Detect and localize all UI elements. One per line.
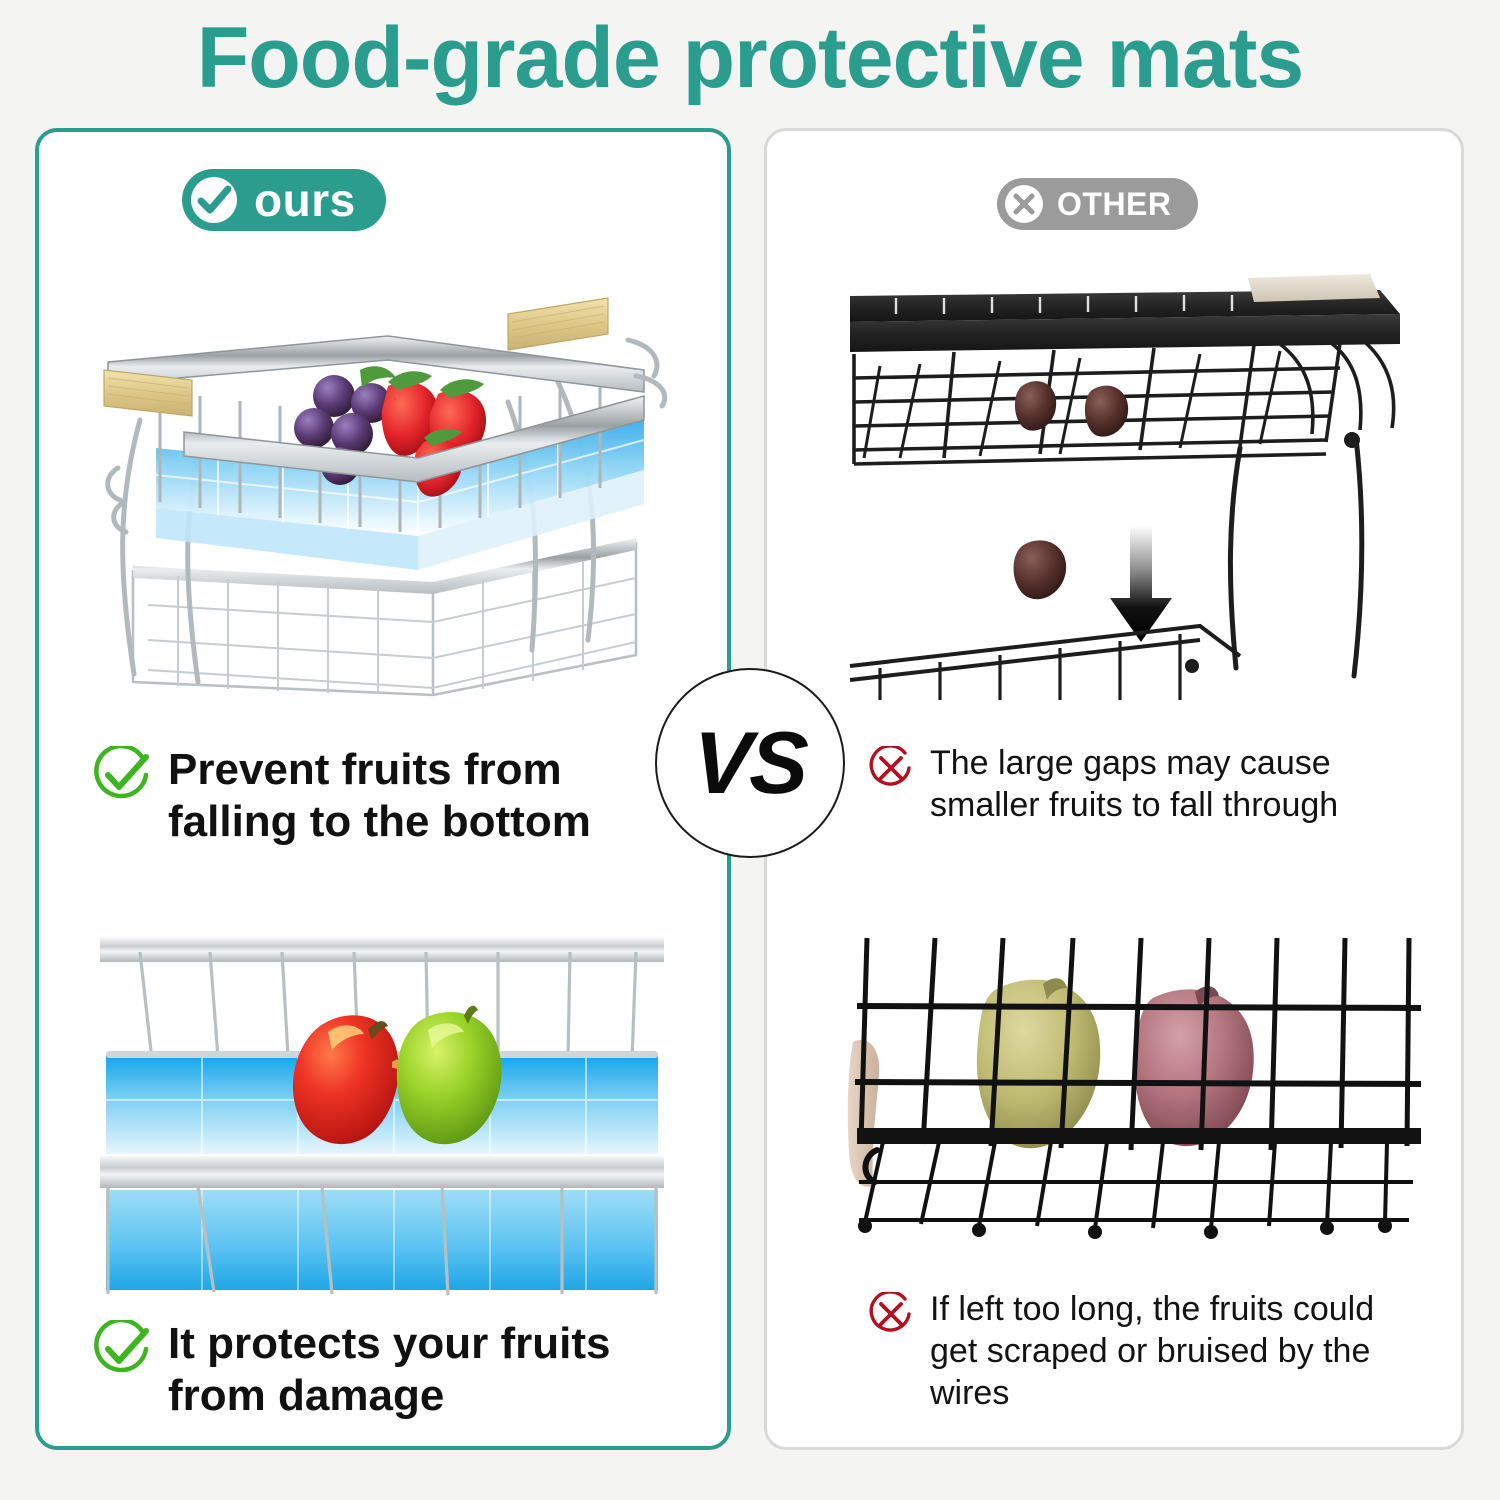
caption-other-top-text: The large gaps may cause smaller fruits … [930,742,1428,826]
x-circle-icon [868,1292,914,1338]
check-circle-icon [92,1320,150,1378]
badge-other: OTHER [997,178,1198,230]
caption-other-bottom: If left too long, the fruits could get s… [868,1288,1428,1414]
check-circle-icon [191,177,237,223]
image-other-top-rack [840,268,1430,700]
image-other-bottom-apples [843,932,1428,1250]
caption-ours-top-text: Prevent fruits from falling to the botto… [168,744,672,848]
badge-other-label: OTHER [1057,188,1172,220]
caption-ours-bottom: It protects your fruits from damage [92,1318,652,1422]
page-title: Food-grade protective mats [0,6,1500,110]
check-circle-icon [92,746,150,804]
image-ours-bottom-apples [92,922,672,1302]
caption-ours-bottom-text: It protects your fruits from damage [168,1318,652,1422]
caption-other-bottom-text: If left too long, the fruits could get s… [930,1288,1428,1414]
caption-other-top: The large gaps may cause smaller fruits … [868,742,1428,826]
x-circle-icon [1005,185,1043,223]
vs-label: VS [692,712,809,814]
image-ours-top-rack [88,270,674,700]
badge-ours: ours [182,169,386,231]
x-circle-icon [868,746,914,792]
badge-ours-label: ours [254,177,356,223]
caption-ours-top: Prevent fruits from falling to the botto… [92,744,672,848]
vs-badge: VS [655,668,845,858]
